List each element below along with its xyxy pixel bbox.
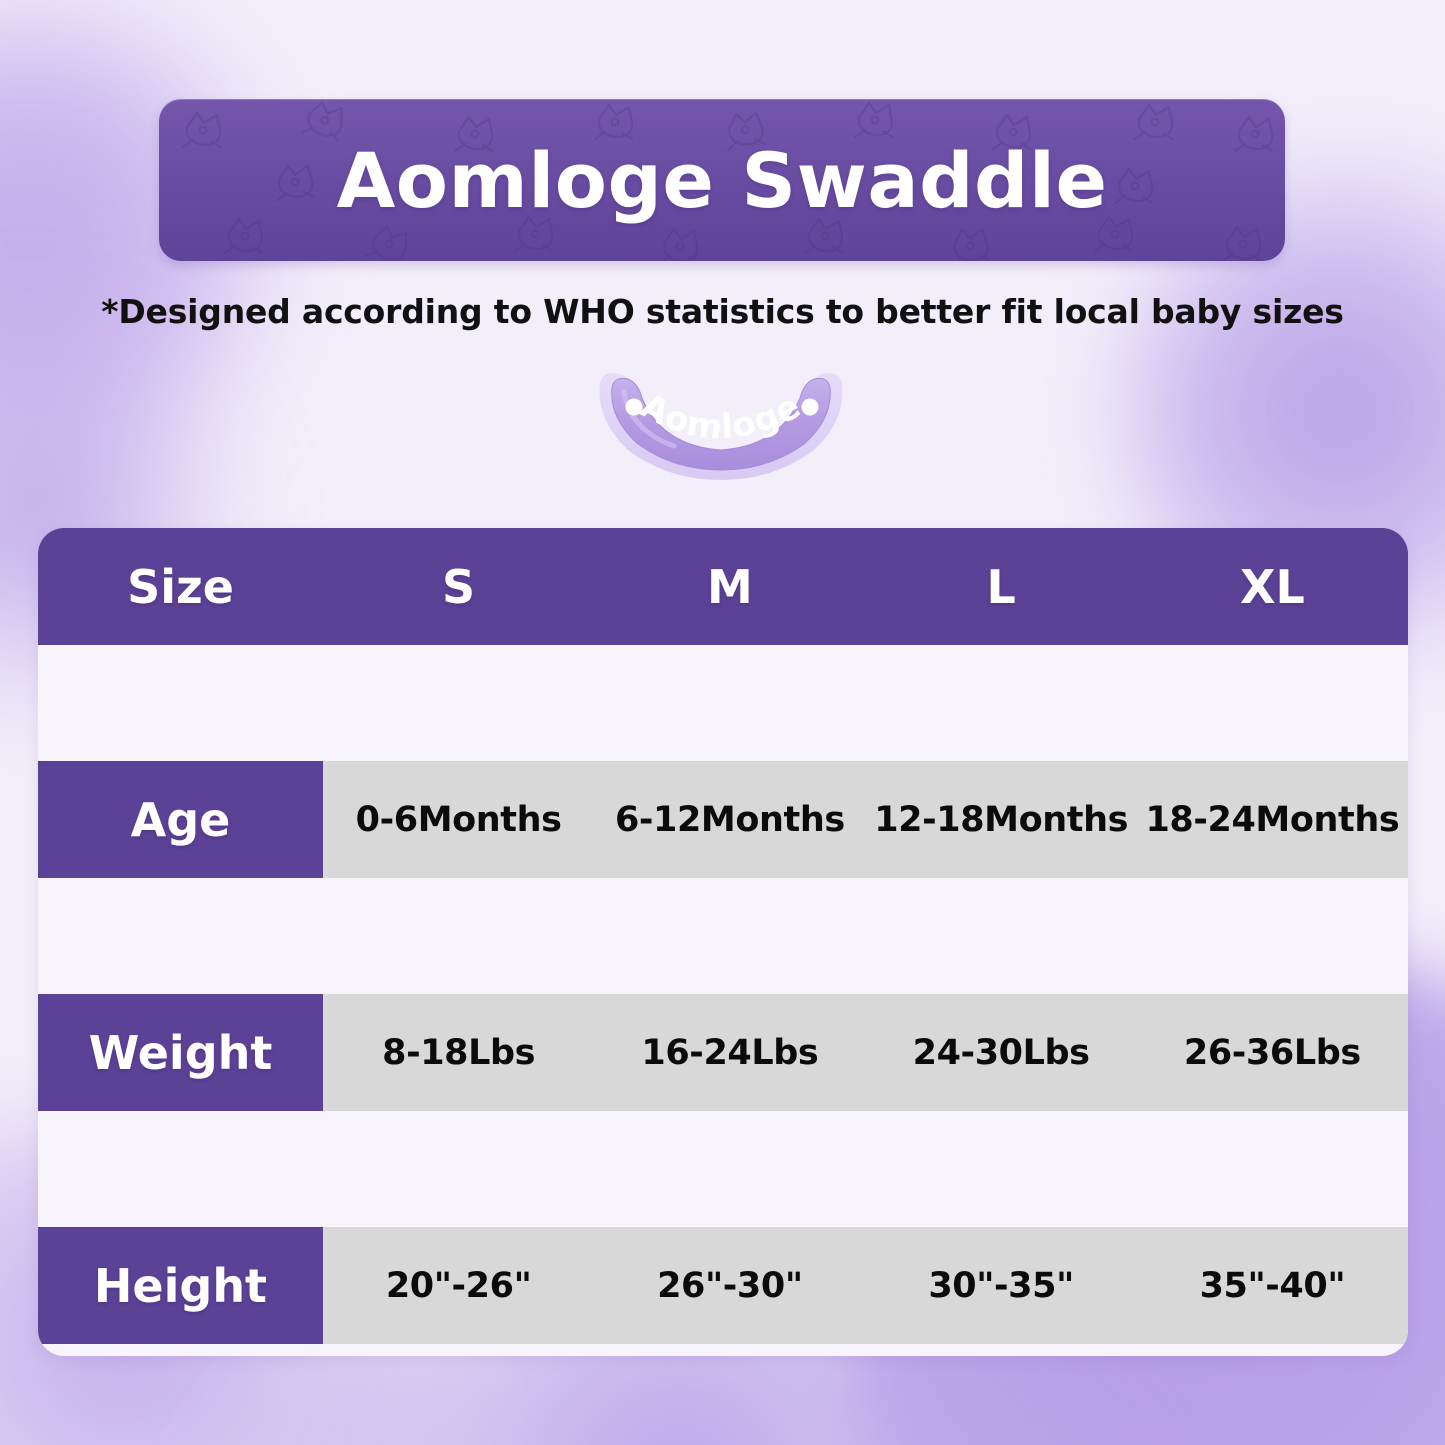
- title-banner: Aomloge Swaddle: [159, 99, 1285, 261]
- row-values-height: 20"-26" 26"-30" 30"-35" 35"-40": [323, 1227, 1408, 1344]
- table-spacer-row: [38, 645, 1408, 761]
- cell-age-m: 6-12Months: [594, 800, 865, 840]
- table-spacer-row: [38, 878, 1408, 994]
- cell-height-s: 20"-26": [323, 1266, 594, 1306]
- brand-logo-icon: Aomloge: [578, 366, 864, 484]
- column-header-xl: XL: [1137, 560, 1408, 614]
- logo-dot-right: [802, 399, 819, 416]
- brand-logo: Aomloge: [578, 366, 864, 484]
- row-label-age: Age: [38, 761, 323, 878]
- size-chart-page: Aomloge Swaddle *Designed according to W…: [0, 0, 1445, 1445]
- cell-weight-m: 16-24Lbs: [594, 1033, 865, 1073]
- row-label-height: Height: [38, 1227, 323, 1344]
- table-row-height: Height 20"-26" 26"-30" 30"-35" 35"-40": [38, 1227, 1408, 1344]
- table-row-age: Age 0-6Months 6-12Months 12-18Months 18-…: [38, 761, 1408, 878]
- table-spacer-row: [38, 1111, 1408, 1227]
- column-header-size: Size: [38, 560, 323, 614]
- cell-height-l: 30"-35": [866, 1266, 1137, 1306]
- cell-weight-s: 8-18Lbs: [323, 1033, 594, 1073]
- column-header-s: S: [323, 560, 594, 614]
- column-header-l: L: [866, 560, 1137, 614]
- row-values-age: 0-6Months 6-12Months 12-18Months 18-24Mo…: [323, 761, 1408, 878]
- cell-age-xl: 18-24Months: [1137, 800, 1408, 840]
- column-header-m: M: [594, 560, 865, 614]
- cell-age-l: 12-18Months: [866, 800, 1137, 840]
- cell-weight-l: 24-30Lbs: [866, 1033, 1137, 1073]
- cell-age-s: 0-6Months: [323, 800, 594, 840]
- row-values-weight: 8-18Lbs 16-24Lbs 24-30Lbs 26-36Lbs: [323, 994, 1408, 1111]
- size-chart-table: Size S M L XL Age 0-6Months 6-12Months 1…: [38, 528, 1408, 1356]
- title-banner-surface: Aomloge Swaddle: [159, 99, 1285, 261]
- row-label-weight: Weight: [38, 994, 323, 1111]
- subtitle-note: *Designed according to WHO statistics to…: [0, 292, 1445, 331]
- table-header-row: Size S M L XL: [38, 528, 1408, 645]
- table-row-weight: Weight 8-18Lbs 16-24Lbs 24-30Lbs 26-36Lb…: [38, 994, 1408, 1111]
- cell-weight-xl: 26-36Lbs: [1137, 1033, 1408, 1073]
- page-title: Aomloge Swaddle: [336, 136, 1107, 225]
- cell-height-m: 26"-30": [594, 1266, 865, 1306]
- cell-height-xl: 35"-40": [1137, 1266, 1408, 1306]
